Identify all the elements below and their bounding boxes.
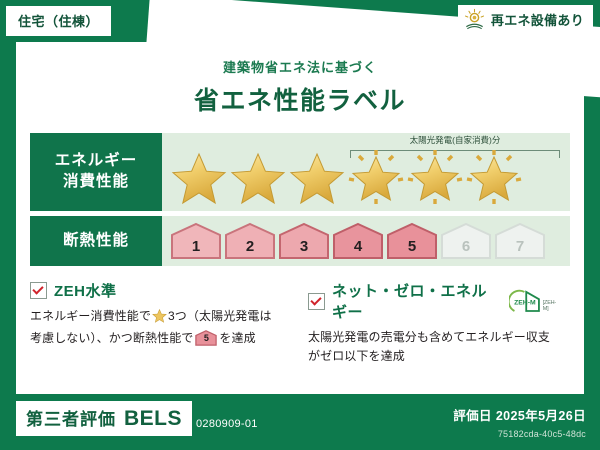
sun-solar-icon bbox=[463, 8, 486, 31]
badge-value: 3 bbox=[278, 238, 330, 255]
insulation-badge-5: 5 bbox=[386, 222, 438, 260]
badge-value: 4 bbox=[332, 238, 384, 255]
bels-number: 0280909-01 bbox=[196, 418, 258, 430]
star-icon bbox=[170, 149, 228, 205]
zeh-text-part1: エネルギー消費性能で bbox=[30, 309, 151, 323]
zeh-criterion: ZEH水準 エネルギー消費性能で3つ（太陽光発電は考慮しない）、かつ断熱性能で5… bbox=[30, 280, 292, 367]
main-panel: 建築物省エネ法に基づく 省エネ性能ラベル エネルギー 消費性能 太陽光発電(自家… bbox=[16, 42, 584, 394]
star-icon-solar bbox=[465, 149, 523, 205]
footer: 第三者評価 BELS 0280909-01 評価日 2025年5月26日 751… bbox=[0, 394, 600, 450]
badge-value: 5 bbox=[386, 238, 438, 255]
insulation-performance-body: 1 2 3 bbox=[162, 216, 570, 266]
zeh-title: ZEH水準 bbox=[54, 280, 117, 301]
badge-value: 7 bbox=[494, 238, 546, 255]
zeh-m-logo-caption: [ZEH-M] bbox=[543, 300, 560, 312]
energy-label-root: 住宅（住棟） 再エネ設備あり 建築物省エネ法に基づく 省エネ性能ラベ bbox=[0, 0, 600, 450]
renewable-equipment-badge: 再エネ設備あり bbox=[458, 5, 593, 34]
bels-evaluation-box: 第三者評価 BELS bbox=[16, 401, 192, 436]
insulation-badge-4: 4 bbox=[332, 222, 384, 260]
badge-value: 2 bbox=[224, 238, 276, 255]
insulation-badge-7: 7 bbox=[494, 222, 546, 260]
energy-label-line2: 消費性能 bbox=[63, 172, 129, 193]
netzero-description: 太陽光発電の売電分も含めてエネルギー収支がゼロ以下を達成 bbox=[308, 328, 560, 367]
netzero-header: ネット・ゼロ・エネルギー ZEH-M [ZEH-M] bbox=[308, 280, 560, 322]
insulation-badge-3: 3 bbox=[278, 222, 330, 260]
energy-label-line1: エネルギー bbox=[55, 151, 138, 172]
insulation-label-text: 断熱性能 bbox=[63, 231, 129, 252]
evaluation-date: 評価日 2025年5月26日 bbox=[453, 405, 586, 424]
star-icon bbox=[288, 149, 346, 205]
star-icon-solar bbox=[347, 149, 405, 205]
housing-type-label: 住宅（住棟） bbox=[18, 14, 99, 29]
energy-performance-body: 太陽光発電(自家消費)分 bbox=[162, 133, 570, 211]
star-icon bbox=[229, 149, 287, 205]
zeh-checkbox-checked-icon bbox=[30, 282, 47, 299]
page-title: 省エネ性能ラベル bbox=[16, 81, 584, 117]
insulation-badge-2: 2 bbox=[224, 222, 276, 260]
zeh-text-part3: を達成 bbox=[219, 331, 255, 345]
insulation-badge-inline: 5 bbox=[195, 330, 217, 346]
bels-en-label: BELS bbox=[124, 407, 182, 431]
star-rating bbox=[162, 149, 523, 205]
housing-type-tag: 住宅（住棟） bbox=[6, 6, 111, 36]
energy-performance-label: エネルギー 消費性能 bbox=[30, 133, 162, 211]
badge-value: 1 bbox=[170, 238, 222, 255]
netzero-criterion: ネット・ゼロ・エネルギー ZEH-M [ZEH-M] 太陽光発電の売電分も含めて… bbox=[292, 280, 570, 367]
netzero-checkbox-checked-icon bbox=[308, 293, 325, 310]
insulation-performance-row: 断熱性能 1 2 bbox=[30, 216, 570, 266]
insulation-badge-1: 1 bbox=[170, 222, 222, 260]
solar-bracket-label: 太陽光発電(自家消費)分 bbox=[350, 134, 560, 146]
insulation-badge-6: 6 bbox=[440, 222, 492, 260]
zeh-header: ZEH水準 bbox=[30, 280, 282, 301]
star-icon-solar bbox=[406, 149, 464, 205]
svg-text:ZEH-M: ZEH-M bbox=[514, 300, 536, 307]
criteria-columns: ZEH水準 エネルギー消費性能で3つ（太陽光発電は考慮しない）、かつ断熱性能で5… bbox=[30, 280, 570, 367]
zeh-m-logo: ZEH-M [ZEH-M] bbox=[509, 288, 560, 314]
netzero-title: ネット・ゼロ・エネルギー bbox=[332, 280, 501, 322]
star-icon-inline bbox=[152, 308, 167, 329]
renewable-equipment-label: 再エネ設備あり bbox=[491, 10, 584, 29]
title-subtitle: 建築物省エネ法に基づく bbox=[16, 57, 584, 76]
energy-performance-row: エネルギー 消費性能 太陽光発電(自家消費)分 bbox=[30, 133, 570, 211]
zeh-description: エネルギー消費性能で3つ（太陽光発電は考慮しない）、かつ断熱性能で5を達成 bbox=[30, 307, 282, 349]
insulation-grade-badges: 1 2 3 bbox=[162, 222, 546, 260]
inline-badge-value: 5 bbox=[195, 331, 217, 346]
insulation-performance-label: 断熱性能 bbox=[30, 216, 162, 266]
performance-rows: エネルギー 消費性能 太陽光発電(自家消費)分 bbox=[30, 133, 570, 266]
document-hash: 75182cda-40c5-48dc bbox=[498, 429, 586, 439]
bels-jp-label: 第三者評価 bbox=[26, 405, 116, 430]
badge-value: 6 bbox=[440, 238, 492, 255]
